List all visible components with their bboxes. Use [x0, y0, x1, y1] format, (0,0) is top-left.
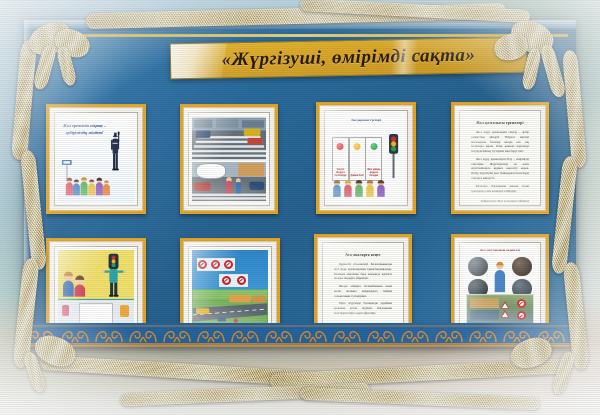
doc-top-paragraph-3: Балалар! Бағдаршам жасыл түске ауысқанда… — [471, 184, 529, 194]
poster-print-4: Жол қозғалысы ережелері Жол жүру ережеле… — [459, 110, 541, 206]
bottom-photo-strip — [466, 294, 534, 323]
poster-sheet-5 — [49, 241, 143, 335]
children-row-icon — [331, 177, 390, 200]
poster-2-artwork — [192, 116, 266, 202]
board-title-banner: «Жүргізуші, өмірімді сақта» — [170, 37, 528, 80]
board-title-text: «Жүргізуші, өмірімді сақта» — [221, 45, 475, 72]
poster-3-title: Бағдаршам түстері — [331, 118, 401, 122]
circle-photo-1 — [467, 256, 488, 277]
traffic-light-card-yellow: Дайын бол! — [349, 137, 366, 181]
no-pedestrian-sign-icon — [224, 260, 233, 269]
doc-bottom-paragraph-2: Жолда ойнауға болмайтынын және көлік жол… — [334, 284, 392, 298]
doc-top-title: Жол қозғалысы ережелері — [471, 121, 529, 125]
poster-7-document: Ата-аналарға кеңес Құрметті ата-аналар! … — [326, 246, 400, 326]
poster-pocket-4[interactable]: Жол қозғалысы ережелері Жол жүру ережеле… — [451, 102, 549, 214]
ornament-pattern — [24, 323, 576, 347]
traffic-light-man-icon — [101, 253, 127, 299]
poster-print-6 — [188, 246, 272, 330]
photo-scene: «Жүргізуші, өмірімді сақта» Жол ережесін… — [0, 0, 600, 415]
poster-sheet-8: Жол апаттарының алдын алу — [454, 237, 546, 335]
poster-1-artwork: Жол ережесін сақтау – әрбіріміздің мінде… — [58, 116, 134, 202]
strip-photo-1 — [470, 298, 499, 308]
poster-print-2 — [188, 112, 270, 206]
information-board: «Жүргізуші, өмірімді сақта» Жол ережесін… — [24, 20, 576, 347]
poster-8-artwork: Жол апаттарының алдын алу — [463, 246, 537, 326]
red-light-caption: Тоқта! Жүруге болмайды — [333, 168, 347, 178]
desk-object-right — [120, 305, 129, 317]
poster-print-1: Жол ережесін сақтау – әрбіріміздің мінде… — [54, 112, 138, 206]
yellow-light-dot — [354, 143, 361, 150]
green-light-caption: Жол ашық, жүруге болады — [367, 168, 381, 178]
poster-sheet-3: Бағдаршам түстері Тоқта! Жүруге болмайды… — [319, 105, 413, 211]
text-document-bottom: Ата-аналарға кеңес Құрметті ата-аналар! … — [326, 246, 400, 326]
group-of-children-icon — [64, 173, 111, 199]
no-turn-sign-icon — [222, 276, 231, 285]
doc-top-paragraph-1: Жол жүру ережелерін сақтау – әрбір азама… — [471, 130, 529, 154]
board-left-edge — [24, 20, 31, 347]
children-listening-icon — [60, 267, 95, 297]
desk-paper — [79, 303, 113, 324]
poster-print-5 — [54, 246, 138, 330]
poster-8-title: Жол апаттарының алдын алу — [467, 248, 532, 252]
traffic-light-card-red: Тоқта! Жүруге болмайды — [332, 137, 349, 181]
road-sign-group-1 — [197, 258, 235, 272]
warning-triangle-sign-2 — [501, 310, 510, 317]
prohibition-sign-1 — [517, 299, 526, 308]
poster-6-artwork — [192, 250, 268, 326]
traffic-light-card-green: Жол ашық, жүруге болады — [365, 137, 382, 181]
poster-print-8: Жол апаттарының алдын алу — [459, 242, 541, 330]
circle-photo-2 — [511, 256, 532, 277]
road-sign-group-2 — [219, 274, 248, 287]
poster-print-7: Ата-аналарға кеңес Құрметті ата-аналар! … — [322, 242, 404, 330]
no-overtaking-sign-icon — [237, 276, 246, 285]
banner-glare — [170, 37, 228, 80]
warning-triangle-sign-1 — [501, 301, 510, 308]
poster-1-title: Жол ережесін сақтау – әрбіріміздің мінде… — [63, 122, 107, 136]
no-entry-sign-icon — [198, 260, 207, 269]
speech-bubble — [196, 163, 226, 178]
poster-pocket-2[interactable] — [180, 104, 278, 214]
doc-bottom-paragraph-3: Бірге жүргенде балаңызды әрдайым қолынан… — [334, 301, 392, 315]
desk-object-left — [62, 305, 70, 315]
zebra-crossing-photo — [192, 116, 266, 161]
strip-photo-2 — [470, 310, 499, 320]
doc-top-signature: Дайындаған: Жол қозғалысы үйірмесі — [471, 199, 529, 202]
red-light-dot — [337, 143, 344, 150]
doc-bottom-title: Ата-аналарға кеңес — [334, 253, 392, 257]
poster-5-artwork — [58, 250, 134, 326]
poster-pocket-1[interactable]: Жол ережесін сақтау – әрбіріміздің мінде… — [46, 104, 146, 214]
board-top-edge — [24, 20, 576, 29]
poster-print-3: Бағдаршам түстері Тоқта! Жүруге болмайды… — [324, 110, 408, 206]
poster-sheet-7: Ата-аналарға кеңес Құрметті ата-аналар! … — [317, 237, 409, 335]
no-bicycle-sign-icon — [211, 260, 220, 269]
prohibition-sign-2 — [517, 311, 526, 320]
poster-sheet-4: Жол қозғалысы ережелері Жол жүру ережеле… — [454, 105, 546, 211]
doc-bottom-paragraph-1: Құрметті ата-аналар! Балаларыңызды жол ж… — [334, 262, 392, 281]
poster-sheet-6 — [183, 241, 277, 335]
poster-sheet-1: Жол ережесін сақтау – әрбіріміздің мінде… — [49, 107, 143, 211]
traffic-light-pole-icon — [386, 128, 401, 183]
green-light-dot — [370, 143, 377, 150]
text-document-top: Жол қозғалысы ережелері Жол жүру ережеле… — [463, 114, 537, 202]
centre-child-figure-icon — [491, 259, 509, 294]
poster-3-artwork: Бағдаршам түстері Тоқта! Жүруге болмайды… — [328, 114, 404, 202]
poster-4-document: Жол қозғалысы ережелері Жол жүру ережеле… — [463, 114, 537, 202]
kazakh-ornament-band — [24, 323, 576, 347]
road-scene-photo — [192, 290, 268, 326]
doc-top-paragraph-2: Жол жүру ережелерін білу – өміріңізді са… — [471, 157, 529, 181]
poster-sheet-2 — [183, 107, 275, 211]
classroom-desk — [58, 299, 134, 326]
poster-pocket-3[interactable]: Бағдаршам түстері Тоқта! Жүруге болмайды… — [316, 102, 416, 214]
